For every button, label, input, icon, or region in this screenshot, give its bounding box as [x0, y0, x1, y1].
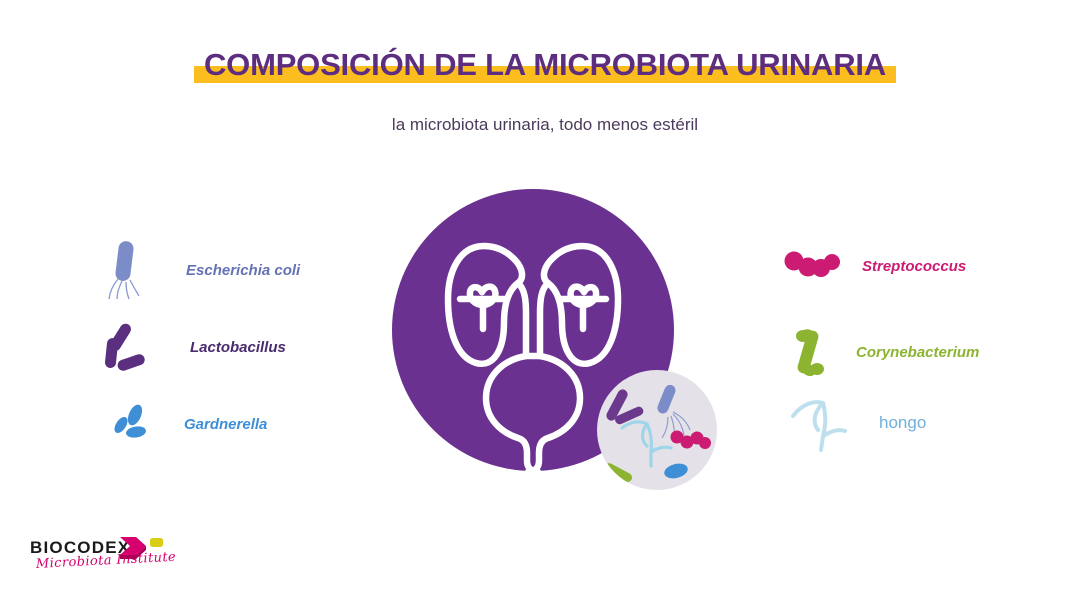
- page-title: COMPOSICIÓN DE LA MICROBIOTA URINARIA: [204, 47, 886, 82]
- legend-label: Corynebacterium: [856, 344, 979, 361]
- inset-rod-cluster-icon: [605, 388, 645, 426]
- rod-cluster-icon: [100, 320, 148, 375]
- fungal-hyphae-icon: [787, 392, 849, 454]
- inset-club-rod-icon: [603, 462, 634, 484]
- legend-label: Streptococcus: [862, 258, 966, 275]
- legend-item-hongo: hongo: [787, 392, 926, 454]
- logo-mark-icon: [118, 533, 168, 559]
- title-block: COMPOSICIÓN DE LA MICROBIOTA URINARIA: [0, 46, 1090, 84]
- legend-label: Gardnerella: [184, 416, 267, 433]
- inset-coccobacilli-icon: [663, 461, 690, 480]
- legend-item-lactobacillus: Lactobacillus: [100, 320, 286, 375]
- cocci-chain-icon: [784, 250, 840, 282]
- biocodex-logo: BIOCODEX Microbiota Institute: [30, 533, 180, 581]
- microbiota-inset-circle: [597, 370, 717, 490]
- flagellated-rod-icon: [104, 239, 146, 301]
- legend-item-escherichia-coli: Escherichia coli: [104, 239, 300, 301]
- legend-item-gardnerella: Gardnerella: [112, 404, 267, 444]
- legend-label: hongo: [879, 413, 926, 433]
- inset-cocci-chain-icon: [671, 431, 712, 450]
- legend-item-streptococcus: Streptococcus: [784, 250, 966, 282]
- coccobacilli-icon: [112, 404, 152, 444]
- legend-label: Escherichia coli: [186, 262, 300, 279]
- inset-fungal-hyphae-icon: [622, 422, 671, 466]
- inset-flagellated-rod-icon: [656, 383, 690, 440]
- legend-label: Lactobacillus: [190, 339, 286, 356]
- legend-item-corynebacterium: Corynebacterium: [790, 326, 979, 378]
- infographic-slide: COMPOSICIÓN DE LA MICROBIOTA URINARIA la…: [0, 0, 1090, 606]
- page-subtitle: la microbiota urinaria, todo menos estér…: [0, 113, 1090, 137]
- club-rod-icon: [790, 326, 834, 378]
